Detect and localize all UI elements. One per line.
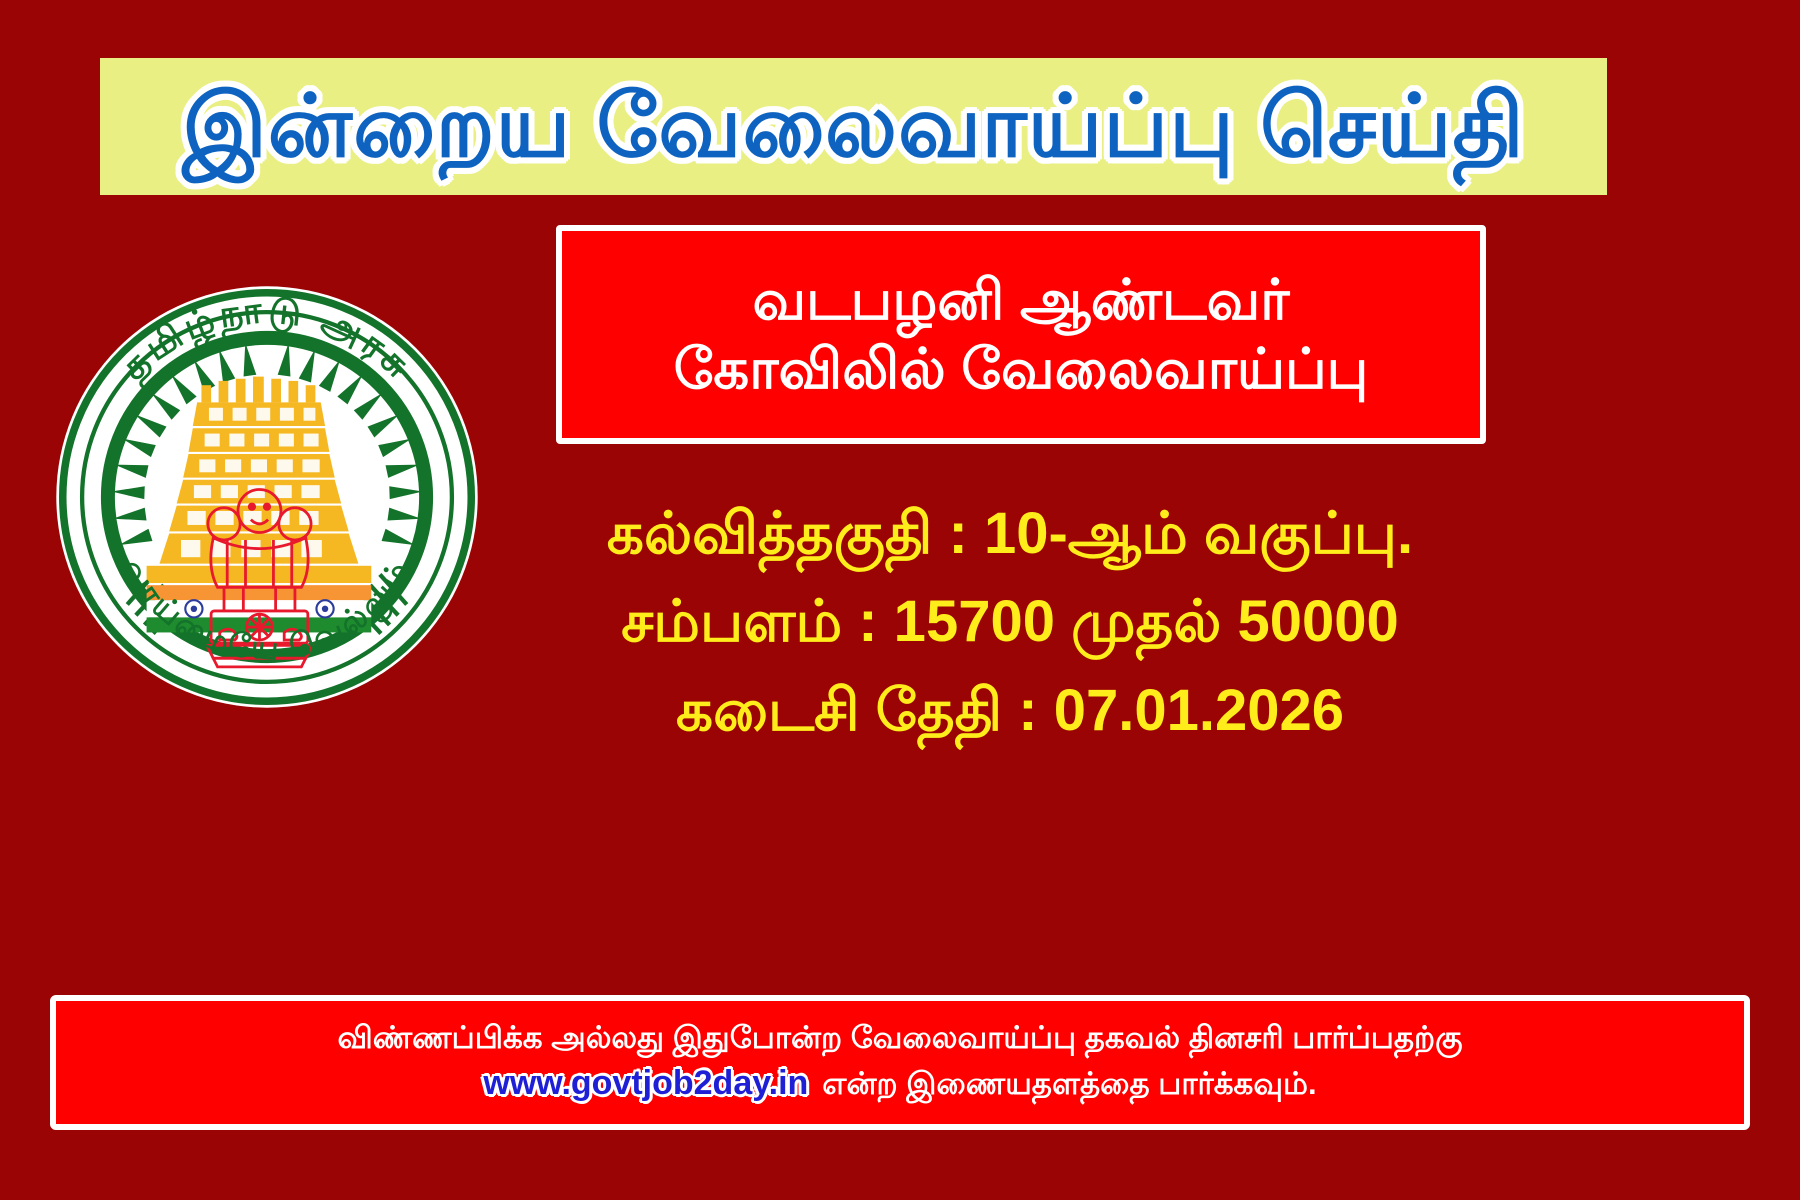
qualification-line: கல்வித்தகுதி : 10-ஆம் வகுப்பு. bbox=[607, 500, 1413, 568]
job-title-line-1: வடபழனி ஆண்டவர் bbox=[753, 269, 1290, 332]
footer-website-tail-text: என்ற இணையதளத்தை பார்க்கவும். bbox=[822, 1066, 1316, 1106]
footer-website-line: www.govtjob2day.in என்ற இணையதளத்தை பார்க… bbox=[483, 1064, 1316, 1106]
website-url-link[interactable]: www.govtjob2day.in bbox=[483, 1064, 808, 1103]
footer-box: விண்ணப்பிக்க அல்லது இதுபோன்ற வேலைவாய்ப்ப… bbox=[50, 995, 1750, 1130]
last-date-line: கடைசி தேதி : 07.01.2026 bbox=[676, 677, 1344, 745]
page-title: இன்றைய வேலைவாய்ப்பு செய்தி bbox=[182, 83, 1525, 170]
job-title-box: வடபழனி ஆண்டவர் கோவிலில் வேலைவாய்ப்பு bbox=[556, 225, 1486, 444]
job-title-line-2: கோவிலில் வேலைவாய்ப்பு bbox=[674, 338, 1369, 401]
job-notification-poster: இன்றைய வேலைவாய்ப்பு செய்தி bbox=[0, 0, 1800, 1200]
salary-line: சம்பளம் : 15700 முதல் 50000 bbox=[621, 588, 1399, 656]
header-banner: இன்றைய வேலைவாய்ப்பு செய்தி bbox=[100, 58, 1607, 195]
tamil-nadu-emblem-icon: தமிழ்நாடு அரசு வாய்மையே வெல்லும் bbox=[52, 282, 482, 712]
job-details: கல்வித்தகுதி : 10-ஆம் வகுப்பு. சம்பளம் :… bbox=[480, 500, 1540, 745]
footer-instruction-line: விண்ணப்பிக்க அல்லது இதுபோன்ற வேலைவாய்ப்ப… bbox=[337, 1019, 1462, 1056]
